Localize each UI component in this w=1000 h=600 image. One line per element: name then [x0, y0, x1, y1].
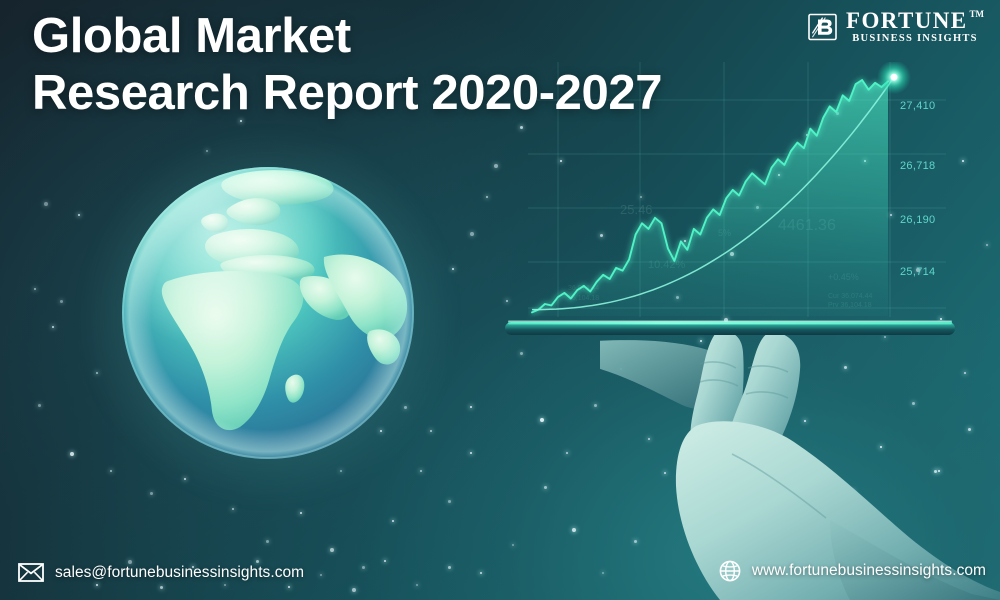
particle-dot	[224, 584, 226, 586]
particle-dot	[572, 528, 576, 532]
particle-dot	[110, 470, 112, 472]
brand-logo[interactable]: FORTUNE TM BUSINESS INSIGHTS	[808, 9, 984, 45]
particle-dot	[96, 584, 98, 586]
tablet-device	[505, 318, 955, 338]
particle-dot	[352, 588, 356, 592]
logo-tagline: BUSINESS INSIGHTS	[846, 34, 984, 45]
contact-email[interactable]: sales@fortunebusinessinsights.com	[18, 563, 304, 582]
particle-dot	[986, 244, 988, 246]
globe-illustration	[108, 165, 428, 465]
particle-dot	[520, 126, 523, 129]
logo-mark-svg	[808, 12, 838, 42]
logo-brand-name: FORTUNE	[846, 9, 967, 32]
particle-dot	[288, 586, 290, 588]
particle-dot	[480, 572, 482, 574]
axis-tick-2: 26,190	[900, 214, 935, 226]
fortune-b-mark-icon	[808, 12, 838, 42]
particle-dot	[470, 232, 474, 236]
website-text: www.fortunebusinessinsights.com	[752, 562, 986, 580]
globe-icon	[719, 560, 741, 582]
particle-dot	[232, 508, 234, 510]
particle-dot	[160, 586, 163, 589]
particle-dot	[34, 288, 36, 290]
tablet-svg	[505, 318, 955, 338]
particle-dot	[470, 452, 472, 454]
contact-website[interactable]: www.fortunebusinessinsights.com	[719, 560, 986, 582]
particle-dot	[266, 540, 269, 543]
particle-dot	[512, 544, 514, 546]
particle-dot	[520, 352, 523, 355]
particle-dot	[384, 560, 386, 562]
particle-dot	[594, 404, 597, 407]
particle-dot	[362, 566, 365, 569]
globe-svg	[108, 165, 428, 465]
particle-dot	[330, 548, 334, 552]
particle-dot	[506, 300, 508, 302]
particle-dot	[392, 520, 394, 522]
title-line-1: Global Market	[32, 9, 351, 63]
chart-highlight-point	[891, 74, 898, 81]
title-line-2: Research Report 2020-2027	[32, 65, 662, 122]
marketing-banner: 25.46 10.42% 4461.36 5% +0.45% 36,074.44…	[0, 0, 1000, 600]
particle-dot	[470, 406, 472, 408]
logo-brand-row: FORTUNE TM	[846, 9, 984, 32]
particle-dot	[38, 404, 41, 407]
particle-dot	[320, 574, 322, 576]
particle-dot	[52, 326, 54, 328]
page-title: Global Market Research Report 2020-2027	[32, 8, 662, 122]
particle-dot	[44, 202, 48, 206]
particle-dot	[70, 452, 74, 456]
particle-dot	[420, 470, 422, 472]
axis-tick-0: 27,410	[900, 100, 935, 112]
particle-dot	[494, 164, 498, 168]
logo-wordmark: FORTUNE TM BUSINESS INSIGHTS	[846, 9, 984, 45]
axis-tick-3: 25,714	[900, 266, 935, 278]
particle-dot	[544, 486, 547, 489]
particle-dot	[448, 500, 451, 503]
particle-dot	[962, 160, 964, 162]
particle-dot	[416, 584, 418, 586]
particle-dot	[540, 418, 544, 422]
envelope-icon	[18, 563, 44, 582]
particle-dot	[300, 512, 302, 514]
email-text: sales@fortunebusinessinsights.com	[55, 564, 304, 582]
axis-tick-1: 26,718	[900, 160, 935, 172]
particle-dot	[78, 214, 80, 216]
particle-dot	[486, 196, 488, 198]
svg-text:25.46: 25.46	[620, 202, 653, 217]
trademark-symbol: TM	[970, 10, 985, 19]
particle-dot	[60, 300, 63, 303]
particle-dot	[150, 492, 153, 495]
particle-dot	[566, 452, 568, 454]
particle-dot	[448, 566, 451, 569]
